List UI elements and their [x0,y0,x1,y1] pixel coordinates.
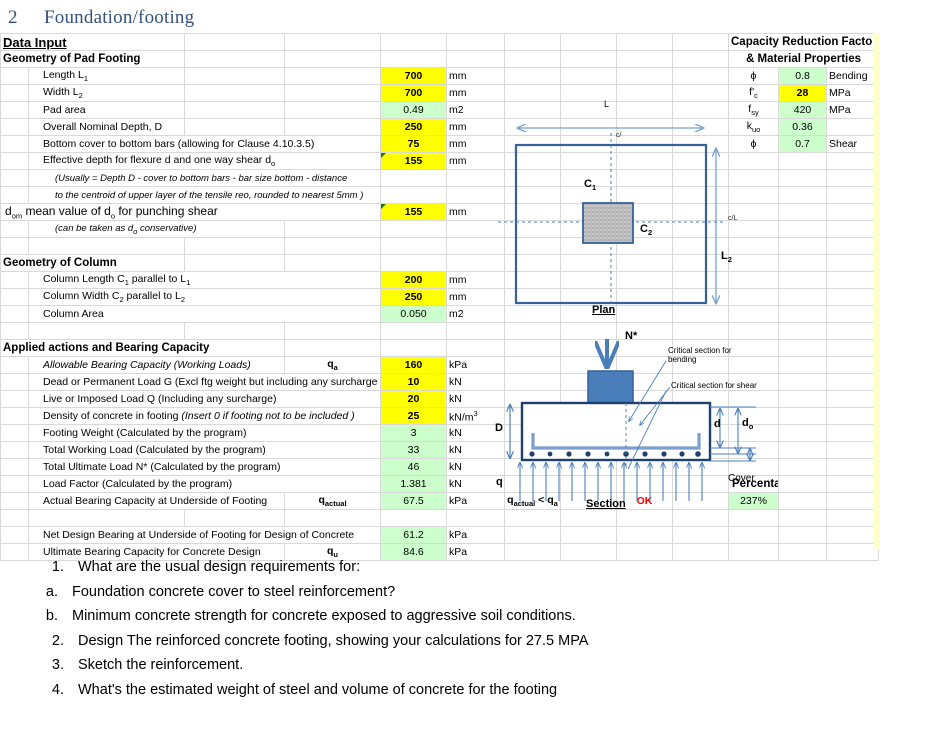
cell-allowable-bearing-value[interactable]: 160 [381,357,447,374]
cell-empty[interactable] [617,170,673,187]
cell-empty[interactable] [617,391,673,408]
cell-empty[interactable] [673,153,729,170]
cell-empty[interactable] [673,119,729,136]
cell-empty[interactable] [561,136,617,153]
cell-empty[interactable] [827,544,879,561]
cell-empty[interactable] [381,510,447,527]
cell-empty[interactable] [827,459,879,476]
cell-empty[interactable] [381,323,447,340]
cell-empty[interactable] [505,374,561,391]
cell-empty[interactable] [447,510,505,527]
cell-empty[interactable] [561,119,617,136]
cell-empty[interactable] [617,442,673,459]
cell-empty[interactable] [1,323,29,340]
cell-empty[interactable] [561,272,617,289]
cell-empty[interactable] [617,306,673,323]
cell-empty[interactable] [673,272,729,289]
cell-empty[interactable] [729,340,779,357]
cell-empty[interactable] [285,119,381,136]
cell-empty[interactable] [673,187,729,204]
cell-empty[interactable] [505,204,561,221]
cell-depth-value[interactable]: 250 [381,119,447,136]
cell-empty[interactable] [673,493,729,510]
page-title-number: 2 [8,7,44,29]
cell-empty[interactable] [505,340,561,357]
cell-empty[interactable] [779,272,827,289]
cell-empty[interactable] [779,323,827,340]
cell-empty[interactable] [617,68,673,85]
cell-empty[interactable] [447,34,505,51]
cell-empty[interactable] [779,255,827,272]
cell-empty[interactable] [779,306,827,323]
cell-empty[interactable] [729,527,779,544]
cell-load-factor-value[interactable]: 1.381 [381,476,447,493]
cell-empty[interactable] [505,255,561,272]
cell-dead-load-value[interactable]: 10 [381,374,447,391]
cell-empty[interactable] [617,408,673,425]
cell-empty[interactable] [827,476,879,493]
cell-dom-value[interactable]: 155 [381,204,447,221]
cell-empty[interactable] [505,187,561,204]
cell-empty[interactable] [1,459,29,476]
cell-empty[interactable] [561,289,617,306]
cell-empty[interactable] [561,306,617,323]
table-row [1,510,879,527]
cell-empty[interactable] [285,323,381,340]
cell-empty[interactable] [505,272,561,289]
cell-empty[interactable] [1,289,29,306]
cell-empty[interactable] [673,544,729,561]
cell-empty[interactable] [561,374,617,391]
cell-empty[interactable] [447,187,505,204]
cell-empty[interactable] [185,102,285,119]
cell-total-ultimate-load-value[interactable]: 46 [381,459,447,476]
cell-empty[interactable] [729,510,779,527]
cell-empty[interactable] [827,425,879,442]
cell-empty[interactable] [617,425,673,442]
cell-empty[interactable] [617,544,673,561]
cell-empty[interactable] [617,153,673,170]
cell-empty[interactable] [505,238,561,255]
cell-empty[interactable] [561,493,617,510]
cell-empty[interactable] [505,459,561,476]
cell-empty[interactable] [561,340,617,357]
cell-empty[interactable] [673,425,729,442]
cell-pad-area-value[interactable]: 0.49 [381,102,447,119]
cell-empty[interactable] [561,544,617,561]
cell-empty[interactable] [381,340,447,357]
cell-empty[interactable] [561,476,617,493]
cell-empty[interactable] [1,425,29,442]
cell-empty[interactable] [1,374,29,391]
cell-empty[interactable] [617,85,673,102]
cell-empty[interactable] [381,187,447,204]
cell-empty[interactable] [447,238,505,255]
cell-empty[interactable] [673,204,729,221]
cell-empty[interactable] [729,255,779,272]
cell-empty[interactable] [561,527,617,544]
cell-empty[interactable] [561,442,617,459]
cell-empty[interactable] [185,510,285,527]
cell-empty[interactable] [617,476,673,493]
cell-dom-unit: mm [447,204,505,221]
cell-empty[interactable] [827,374,879,391]
cell-empty[interactable] [1,187,29,204]
cell-empty[interactable] [561,85,617,102]
cell-empty[interactable] [827,493,879,510]
cap-value-kuo[interactable]: 0.36 [779,119,827,136]
cell-width-value[interactable]: 700 [381,85,447,102]
cell-empty[interactable] [285,102,381,119]
cell-empty[interactable] [673,68,729,85]
cell-empty[interactable] [1,102,29,119]
cell-empty[interactable] [729,425,779,442]
cell-column-area-value[interactable]: 0.050 [381,306,447,323]
cell-empty[interactable] [381,238,447,255]
cell-empty[interactable] [779,170,827,187]
cell-empty[interactable] [827,442,879,459]
cell-empty[interactable] [447,51,505,68]
row-label-dom: dom mean value of do for punching shear [1,204,381,221]
cell-empty[interactable] [1,170,29,187]
cell-empty[interactable] [617,323,673,340]
cell-empty[interactable] [505,442,561,459]
cell-empty[interactable] [729,357,779,374]
cell-empty[interactable] [29,238,185,255]
cell-empty[interactable] [673,374,729,391]
cell-empty[interactable] [827,306,879,323]
cell-empty[interactable] [617,510,673,527]
cell-empty[interactable] [673,170,729,187]
cell-empty[interactable] [729,187,779,204]
cell-empty[interactable] [561,221,617,238]
cell-empty[interactable] [779,459,827,476]
cell-bottom-cover-value[interactable]: 75 [381,136,447,153]
questions-list: 1. What are the usual design requirement… [0,560,932,707]
cell-empty[interactable] [827,170,879,187]
cell-empty[interactable] [1,527,29,544]
cell-empty[interactable] [617,221,673,238]
cell-empty[interactable] [779,510,827,527]
cell-empty[interactable] [617,102,673,119]
cell-empty[interactable] [827,153,879,170]
cell-empty[interactable] [729,289,779,306]
cell-empty[interactable] [779,442,827,459]
cell-empty[interactable] [561,204,617,221]
cell-empty[interactable] [779,408,827,425]
cell-empty[interactable] [673,34,729,51]
cell-empty[interactable] [827,204,879,221]
cell-empty[interactable] [827,289,879,306]
cell-ultimate-bearing-value[interactable]: 84.6 [381,544,447,561]
cell-empty[interactable] [827,255,879,272]
cap-value-fc[interactable]: 28 [779,85,827,102]
cell-empty[interactable] [617,289,673,306]
cell-empty[interactable] [447,323,505,340]
cell-empty[interactable] [561,459,617,476]
cell-empty[interactable] [285,85,381,102]
cell-empty[interactable] [729,170,779,187]
cell-empty[interactable] [1,544,29,561]
cell-empty[interactable] [1,119,29,136]
spreadsheet-area[interactable]: Data Input Capacity Reduction Factors Ge… [0,33,932,549]
cell-empty[interactable] [505,527,561,544]
cell-density-value[interactable]: 25 [381,408,447,425]
cell-empty[interactable] [505,136,561,153]
cell-live-load-value[interactable]: 20 [381,391,447,408]
cell-empty[interactable] [673,510,729,527]
cell-empty[interactable] [673,527,729,544]
cell-empty[interactable] [185,238,285,255]
cell-empty[interactable] [779,221,827,238]
cell-empty[interactable] [779,340,827,357]
cell-empty[interactable] [561,255,617,272]
cell-empty[interactable] [1,153,29,170]
cell-empty[interactable] [505,170,561,187]
cap-value-fsy[interactable]: 420 [779,102,827,119]
cell-empty[interactable] [285,340,381,357]
cell-empty[interactable] [29,510,185,527]
cell-empty[interactable] [285,51,381,68]
cell-empty[interactable] [285,510,381,527]
cell-empty[interactable] [1,136,29,153]
cell-empty[interactable] [673,391,729,408]
cell-actual-bearing-value[interactable]: 67.5 [381,493,447,510]
cell-empty[interactable] [673,476,729,493]
cell-empty[interactable] [779,153,827,170]
cell-empty[interactable] [827,221,879,238]
cell-empty[interactable] [505,289,561,306]
cell-empty[interactable] [827,391,879,408]
cell-empty[interactable] [1,68,29,85]
cell-empty[interactable] [1,442,29,459]
cell-empty[interactable] [729,204,779,221]
cell-empty[interactable] [447,221,505,238]
cell-empty[interactable] [673,357,729,374]
cell-empty[interactable] [381,221,447,238]
cell-empty[interactable] [505,306,561,323]
cell-empty[interactable] [827,340,879,357]
cell-empty[interactable] [673,323,729,340]
cell-empty[interactable] [1,510,29,527]
cell-empty[interactable] [505,34,561,51]
cell-empty[interactable] [285,238,381,255]
cell-empty[interactable] [673,340,729,357]
cell-empty[interactable] [673,289,729,306]
cell-empty[interactable] [1,238,29,255]
cell-empty[interactable] [617,255,673,272]
cell-empty[interactable] [617,51,673,68]
cell-empty[interactable] [1,476,29,493]
cell-empty[interactable] [673,85,729,102]
cell-empty[interactable] [617,340,673,357]
cell-empty[interactable] [827,272,879,289]
cell-empty[interactable] [729,306,779,323]
cell-empty[interactable] [561,51,617,68]
cell-empty[interactable] [505,510,561,527]
cell-empty[interactable] [561,102,617,119]
cap-value-phi-bending[interactable]: 0.8 [779,68,827,85]
cell-empty[interactable] [561,170,617,187]
cell-empty[interactable] [673,442,729,459]
cell-empty[interactable] [505,544,561,561]
cell-empty[interactable] [1,493,29,510]
cell-empty[interactable] [617,136,673,153]
cell-empty[interactable] [827,527,879,544]
table-row: Column Width C2 parallel to L2 250 mm [1,289,879,306]
cell-empty[interactable] [779,357,827,374]
cell-empty[interactable] [673,255,729,272]
cell-empty[interactable] [561,68,617,85]
cell-empty[interactable] [381,34,447,51]
cell-empty[interactable] [729,238,779,255]
cell-empty[interactable] [729,221,779,238]
cell-empty[interactable] [617,459,673,476]
cell-empty[interactable] [447,255,505,272]
cell-net-design-bearing-value[interactable]: 61.2 [381,527,447,544]
cell-empty[interactable] [779,289,827,306]
cell-empty[interactable] [185,34,285,51]
cell-empty[interactable] [285,221,381,238]
cell-empty[interactable] [729,544,779,561]
cell-footing-weight-value[interactable]: 3 [381,425,447,442]
cell-empty[interactable] [779,544,827,561]
cell-empty[interactable] [827,408,879,425]
cell-empty[interactable] [729,408,779,425]
cell-empty[interactable] [561,34,617,51]
cell-empty[interactable] [617,374,673,391]
cell-empty[interactable] [185,255,285,272]
cell-empty[interactable] [185,68,285,85]
cell-empty[interactable] [505,85,561,102]
cell-empty[interactable] [505,221,561,238]
cell-empty[interactable] [1,272,29,289]
cell-empty[interactable] [505,391,561,408]
cell-empty[interactable] [617,204,673,221]
cell-empty[interactable] [505,357,561,374]
cell-empty[interactable] [1,306,29,323]
cell-empty[interactable] [729,323,779,340]
cell-empty[interactable] [673,221,729,238]
cell-empty[interactable] [729,459,779,476]
cell-empty[interactable] [617,34,673,51]
cell-empty[interactable] [779,391,827,408]
cell-empty[interactable] [505,476,561,493]
cell-empty[interactable] [505,425,561,442]
cell-effective-depth-value[interactable]: 155 [381,153,447,170]
cell-empty[interactable] [561,391,617,408]
cell-empty[interactable] [729,442,779,459]
cell-empty[interactable] [561,408,617,425]
cell-empty[interactable] [505,68,561,85]
cell-column-length-value[interactable]: 200 [381,272,447,289]
cell-empty[interactable] [673,408,729,425]
cell-empty[interactable] [827,238,879,255]
cell-empty[interactable] [779,527,827,544]
cell-empty[interactable] [185,323,285,340]
cell-empty[interactable] [779,238,827,255]
worksheet-grid[interactable]: Data Input Capacity Reduction Factors Ge… [0,33,879,561]
cell-empty[interactable] [285,68,381,85]
cell-empty[interactable] [29,323,185,340]
cell-empty[interactable] [1,357,29,374]
cell-empty[interactable] [827,357,879,374]
cell-empty[interactable] [381,51,447,68]
cell-empty[interactable] [729,272,779,289]
cell-empty[interactable] [185,119,285,136]
cell-empty[interactable] [827,510,879,527]
cell-empty[interactable] [779,187,827,204]
cell-empty[interactable] [381,255,447,272]
cell-empty[interactable] [673,459,729,476]
cell-empty[interactable] [729,374,779,391]
cell-empty[interactable] [1,391,29,408]
cell-empty[interactable] [185,51,285,68]
cell-empty[interactable] [779,425,827,442]
cell-empty[interactable] [617,527,673,544]
cell-empty[interactable] [1,221,29,238]
cell-empty[interactable] [779,204,827,221]
cell-empty[interactable] [447,340,505,357]
cell-empty[interactable] [673,238,729,255]
cell-empty[interactable] [673,136,729,153]
cell-length-value[interactable]: 700 [381,68,447,85]
cell-empty[interactable] [185,85,285,102]
cell-empty[interactable] [673,102,729,119]
cell-empty[interactable] [779,493,827,510]
cell-empty[interactable] [827,323,879,340]
cell-empty[interactable] [505,153,561,170]
cell-empty[interactable] [617,238,673,255]
cell-empty[interactable] [561,187,617,204]
cell-empty[interactable] [1,85,29,102]
cell-empty[interactable] [561,323,617,340]
cell-empty[interactable] [561,153,617,170]
cell-empty[interactable] [505,323,561,340]
table-row: (can be taken as do conservative) [1,221,879,238]
cell-total-working-load-value[interactable]: 33 [381,442,447,459]
cell-empty[interactable] [505,102,561,119]
cell-empty[interactable] [561,357,617,374]
cell-empty[interactable] [561,425,617,442]
cell-empty[interactable] [447,170,505,187]
cell-empty[interactable] [617,357,673,374]
cell-empty[interactable] [617,119,673,136]
cell-empty[interactable] [827,187,879,204]
cap-value-phi-shear[interactable]: 0.7 [779,136,827,153]
cell-allowable-bearing-unit: kPa [447,357,505,374]
cell-empty[interactable] [673,306,729,323]
cell-empty[interactable] [505,51,561,68]
cell-empty[interactable] [729,391,779,408]
cell-empty[interactable] [285,34,381,51]
cell-empty[interactable] [1,408,29,425]
cell-empty[interactable] [505,119,561,136]
cell-empty[interactable] [381,170,447,187]
cell-empty[interactable] [617,187,673,204]
cell-empty[interactable] [729,153,779,170]
cell-empty[interactable] [673,51,729,68]
page-title-text: Foundation/footing [44,7,194,28]
cell-empty[interactable] [285,255,381,272]
cell-empty[interactable] [505,408,561,425]
cell-empty[interactable] [779,476,827,493]
cell-empty[interactable] [617,272,673,289]
cell-empty[interactable] [561,238,617,255]
cell-column-width-value[interactable]: 250 [381,289,447,306]
cell-empty[interactable] [779,374,827,391]
cell-empty[interactable] [561,510,617,527]
